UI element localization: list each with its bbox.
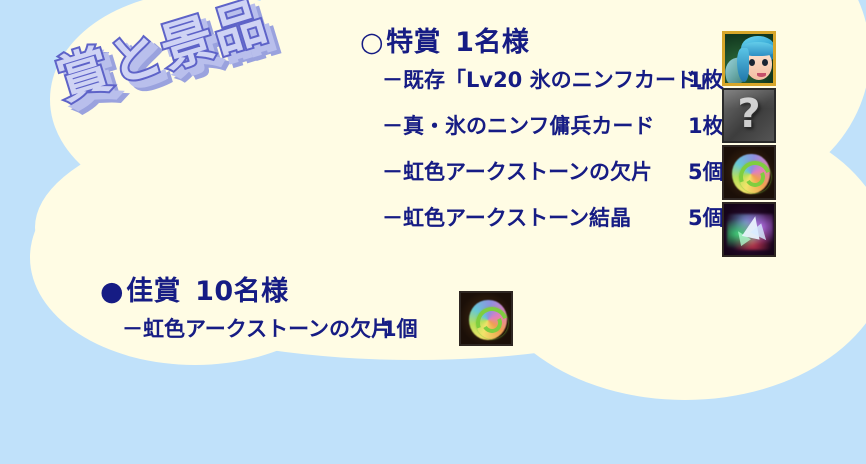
prize-heading-kasho: ●佳賞10名様 xyxy=(100,277,442,307)
filled-circle-bullet-icon: ● xyxy=(100,276,124,307)
rainbow-arkstone-crystal-icon xyxy=(722,202,776,257)
prize-announcement-banner: 賞と景品 賞と景品 賞と景品 賞と景品 ○特賞1名様 －既存「Lv20 氷のニン… xyxy=(0,0,866,464)
fairy-card-icon xyxy=(722,31,776,86)
prize-row: －既存「Lv20 氷のニンフカード」 1枚 xyxy=(382,64,758,110)
prize-icon-column: ? xyxy=(722,31,778,259)
prize-row-list-kasho: －虹色アークストーンの欠片 1個 xyxy=(122,313,442,347)
fairy-mouth-shape xyxy=(757,73,766,77)
unknown-card-icon: ? xyxy=(722,88,776,143)
prize-item-name: －虹色アークストーンの欠片 xyxy=(122,313,382,343)
rainbow-arkstone-fragment-icon xyxy=(722,145,776,200)
prize-block-kasho: ●佳賞10名様 －虹色アークストーンの欠片 1個 xyxy=(100,277,442,347)
prize-row: －真・氷のニンフ傭兵カード 1枚 xyxy=(382,110,758,156)
prize-row-list-tokusho: －既存「Lv20 氷のニンフカード」 1枚 －真・氷のニンフ傭兵カード 1枚 －… xyxy=(382,64,758,248)
hollow-circle-bullet-icon: ○ xyxy=(360,27,384,58)
icon-sheen xyxy=(724,90,774,109)
rainbow-arkstone-fragment-icon xyxy=(459,291,513,346)
prize-winner-count: 10名様 xyxy=(195,276,289,307)
prize-name: 特賞 xyxy=(386,27,441,58)
fairy-eye-shape xyxy=(762,59,768,66)
prize-block-tokusho: ○特賞1名様 －既存「Lv20 氷のニンフカード」 1枚 －真・氷のニンフ傭兵カ… xyxy=(360,28,758,248)
fairy-sidehair-shape xyxy=(737,48,749,82)
prize-row: －虹色アークストーン結晶 5個 xyxy=(382,202,758,248)
prize-row: －虹色アークストーンの欠片 5個 xyxy=(382,156,758,202)
fairy-eye-shape xyxy=(749,59,755,66)
prize-name: 佳賞 xyxy=(126,276,181,307)
prize-heading-tokusho: ○特賞1名様 xyxy=(360,28,758,58)
prize-item-name: －真・氷のニンフ傭兵カード xyxy=(382,110,688,140)
prize-item-name: －虹色アークストーンの欠片 xyxy=(382,156,688,186)
prize-item-qty: 1個 xyxy=(382,313,442,343)
prize-item-name: －虹色アークストーン結晶 xyxy=(382,202,688,232)
prize-row: －虹色アークストーンの欠片 1個 xyxy=(122,313,442,347)
prize-winner-count: 1名様 xyxy=(455,27,529,58)
prize-item-name: －既存「Lv20 氷のニンフカード」 xyxy=(382,64,688,94)
